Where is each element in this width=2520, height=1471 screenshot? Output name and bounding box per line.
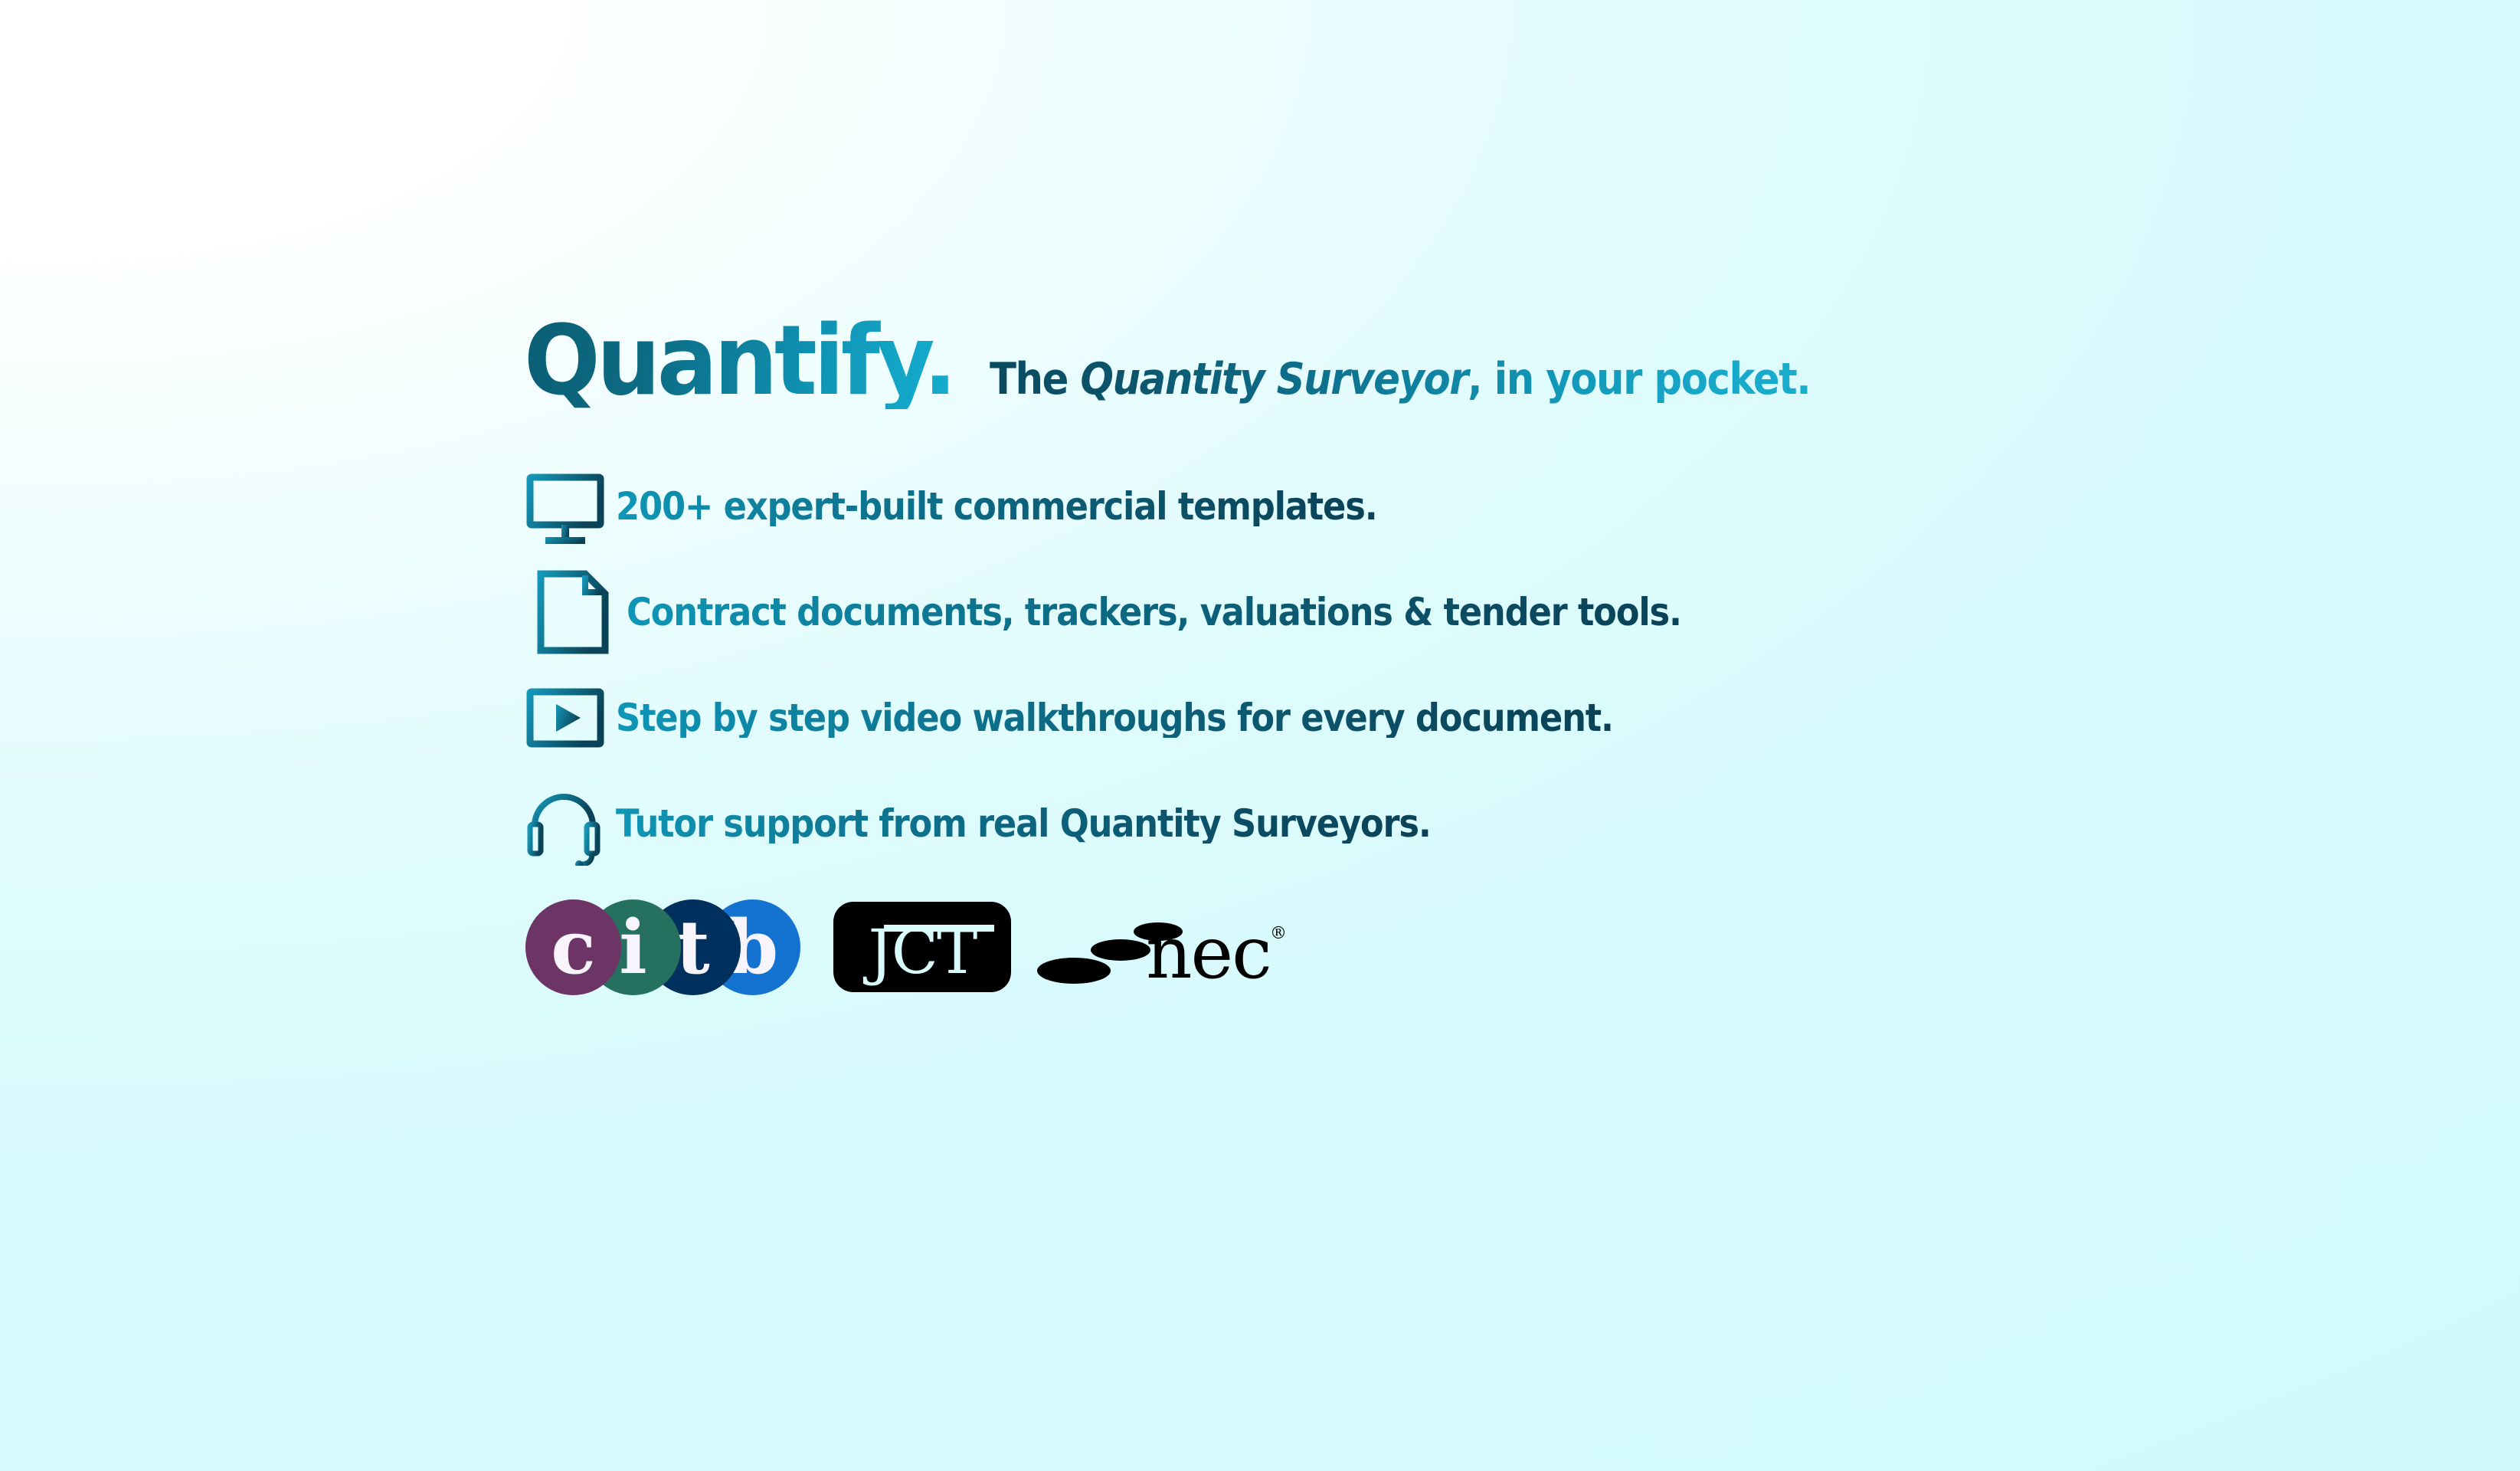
nec-ellipse-large — [1037, 958, 1111, 984]
monitor-icon — [525, 467, 616, 546]
nec-registered-mark: ® — [1270, 924, 1287, 943]
feature-list: 200+ expert-built commercial templates. — [525, 454, 2364, 876]
feature-label: Tutor support from real Quantity Surveyo… — [616, 804, 1431, 844]
jct-logo: JCT — [833, 902, 1011, 992]
feature-item: 200+ expert-built commercial templates. — [525, 454, 2364, 559]
feature-item: Tutor support from real Quantity Surveyo… — [525, 771, 2364, 876]
document-icon — [525, 569, 627, 655]
headset-icon — [525, 781, 616, 866]
jct-logo-overbar — [884, 925, 994, 932]
accreditation-logos: c i t b JCT nec ® — [525, 893, 2364, 1001]
feature-label: Contract documents, trackers, valuations… — [627, 592, 1681, 633]
citb-letter-c: c — [525, 899, 621, 995]
tagline-lead: The — [990, 354, 1080, 405]
tagline-tail: , in your pocket. — [1468, 354, 1810, 405]
promo-card: Quantify. The Quantity Surveyor, in your… — [0, 0, 2520, 1471]
content-column: Quantify. The Quantity Surveyor, in your… — [525, 306, 2364, 1001]
tagline: The Quantity Surveyor, in your pocket. — [990, 355, 1810, 404]
nec-logo: nec ® — [1037, 901, 1290, 993]
tagline-emphasis: Quantity Surveyor — [1080, 354, 1468, 405]
nec-ellipse-medium — [1091, 939, 1150, 961]
feature-item: Contract documents, trackers, valuations… — [525, 559, 2364, 665]
nec-logo-text: nec — [1146, 918, 1271, 990]
feature-label: Step by step video walkthroughs for ever… — [616, 698, 1613, 739]
video-play-icon — [525, 683, 616, 753]
feature-label: 200+ expert-built commercial templates. — [616, 487, 1377, 527]
feature-item: Step by step video walkthroughs for ever… — [525, 665, 2364, 771]
citb-logo: c i t b — [525, 899, 801, 995]
brand-logo: Quantify. — [524, 313, 954, 409]
